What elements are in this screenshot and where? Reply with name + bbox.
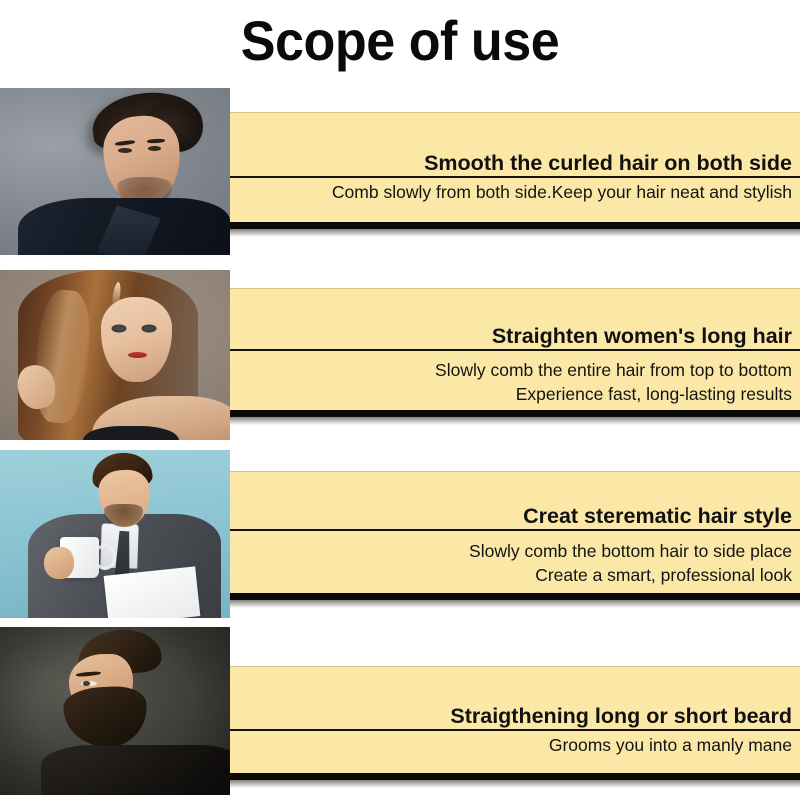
panel-bottom-bar-4 (230, 773, 800, 780)
woman-long-straight-hair-image (0, 270, 230, 440)
man-curly-hair-suit-image (0, 88, 230, 255)
panel-bottom-bar-1 (230, 222, 800, 229)
feature-body-line: Grooms you into a manly mane (549, 733, 792, 757)
feature-body-line: Slowly comb the entire hair from top to … (435, 358, 792, 382)
feature-body-line: Experience fast, long-lasting results (516, 382, 792, 406)
feature-panel-3: Creat sterematic hair style Slowly comb … (230, 471, 800, 593)
feature-body-wrap-2: Slowly comb the entire hair from top to … (230, 353, 800, 410)
feature-heading-3: Creat sterematic hair style (523, 503, 792, 529)
panel-bottom-shadow-1 (230, 229, 800, 237)
feature-heading-wrap-4: Straigthening long or short beard (230, 666, 800, 729)
feature-heading-4: Straigthening long or short beard (450, 703, 792, 729)
panel-bottom-shadow-4 (230, 780, 800, 788)
feature-panel-2: Straighten women's long hair Slowly comb… (230, 288, 800, 410)
feature-heading-wrap-1: Smooth the curled hair on both side (230, 112, 800, 176)
feature-heading-wrap-3: Creat sterematic hair style (230, 471, 800, 529)
panel-bottom-bar-2 (230, 410, 800, 417)
feature-row-4: Straigthening long or short beard Grooms… (0, 627, 800, 800)
feature-divider-1 (230, 176, 800, 178)
feature-body-line: Create a smart, professional look (535, 563, 792, 587)
feature-photo-2 (0, 270, 230, 440)
feature-body-wrap-4: Grooms you into a manly mane (230, 733, 800, 773)
feature-body-wrap-1: Comb slowly from both side.Keep your hai… (230, 180, 800, 222)
bearded-man-profile-image (0, 627, 230, 795)
feature-row-3: Creat sterematic hair style Slowly comb … (0, 450, 800, 625)
feature-row-1: Smooth the curled hair on both side Comb… (0, 88, 800, 263)
feature-divider-3 (230, 529, 800, 531)
feature-body-line: Comb slowly from both side.Keep your hai… (332, 180, 792, 204)
feature-photo-1 (0, 88, 230, 255)
feature-divider-4 (230, 729, 800, 731)
feature-heading-2: Straighten women's long hair (492, 323, 792, 349)
feature-photo-3 (0, 450, 230, 618)
feature-heading-1: Smooth the curled hair on both side (424, 150, 792, 176)
feature-photo-4 (0, 627, 230, 795)
feature-body-line: Slowly comb the bottom hair to side plac… (469, 539, 792, 563)
feature-divider-2 (230, 349, 800, 351)
panel-bottom-shadow-3 (230, 600, 800, 608)
feature-panel-1: Smooth the curled hair on both side Comb… (230, 112, 800, 222)
feature-body-wrap-3: Slowly comb the bottom hair to side plac… (230, 533, 800, 593)
businessman-mug-paper-image (0, 450, 230, 618)
feature-row-2: Straighten women's long hair Slowly comb… (0, 270, 800, 445)
feature-panel-4: Straigthening long or short beard Grooms… (230, 666, 800, 773)
panel-bottom-bar-3 (230, 593, 800, 600)
page-title: Scope of use (28, 8, 772, 74)
panel-bottom-shadow-2 (230, 417, 800, 425)
feature-heading-wrap-2: Straighten women's long hair (230, 288, 800, 349)
